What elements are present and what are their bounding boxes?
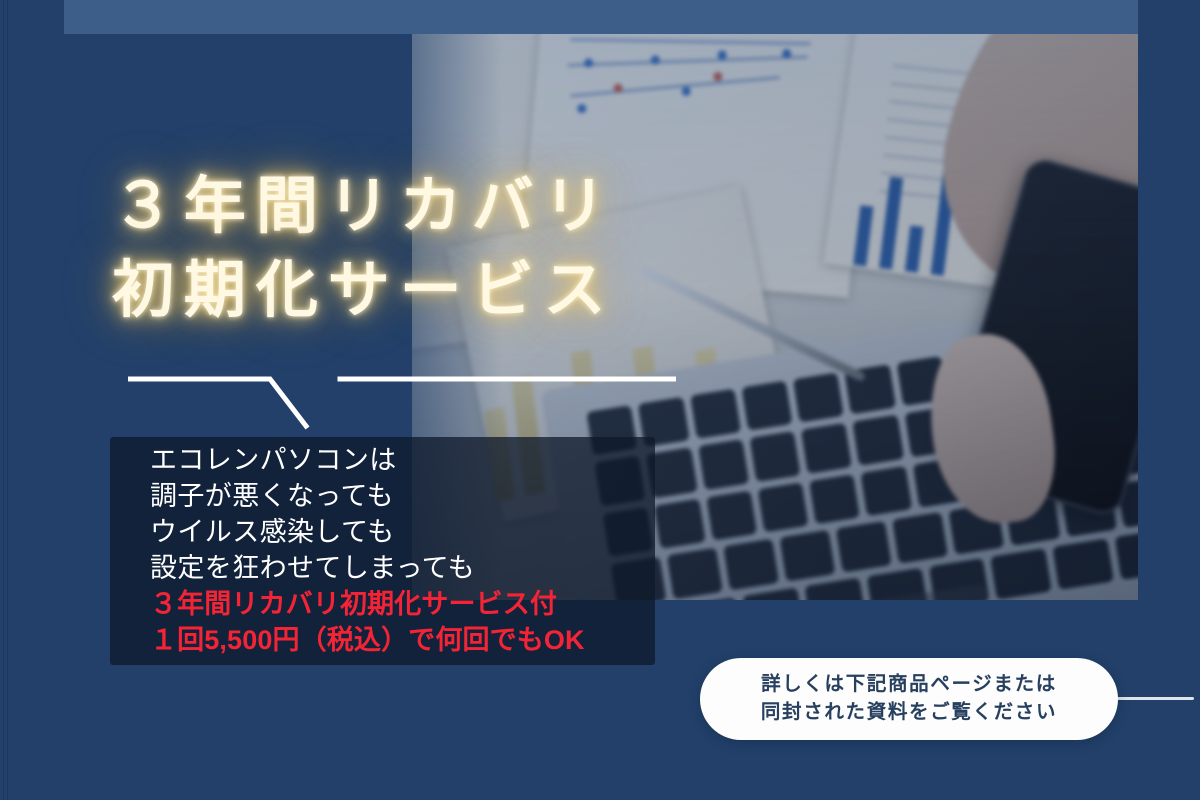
callout-line-2: 同封された資料をご覧ください [761, 699, 1057, 727]
top-accent-band [64, 0, 1138, 34]
promo-banner: ３年間リカバリ 初期化サービス エコレンパソコンは 調子が悪くなっても ウイルス… [0, 0, 1200, 800]
edge-seam-line [3, 0, 4, 800]
body-line-6-accent: １回5,500円（税込）で何回でもOK [150, 623, 585, 659]
callout-text: 詳しくは下記商品ページまたは 同封された資料をご覧ください [761, 671, 1057, 726]
callout-tail-line [1108, 697, 1194, 700]
page-title: ３年間リカバリ 初期化サービス [112, 165, 872, 334]
divider [128, 370, 676, 436]
headline-line-2: 初期化サービス [112, 249, 872, 333]
divider-icon [128, 370, 676, 436]
headline-line-1: ３年間リカバリ [112, 165, 872, 249]
body-text: エコレンパソコンは 調子が悪くなっても ウイルス感染しても 設定を狂わせてしまっ… [150, 443, 585, 658]
callout-line-1: 詳しくは下記商品ページまたは [761, 671, 1057, 699]
body-line-1: エコレンパソコンは [150, 443, 585, 479]
edge-seam-line [7, 0, 8, 800]
body-line-5-accent: ３年間リカバリ初期化サービス付 [150, 587, 585, 623]
body-line-4: 設定を狂わせてしまっても [150, 551, 585, 587]
body-line-2: 調子が悪くなっても [150, 479, 585, 515]
body-line-3: ウイルス感染しても [150, 515, 585, 551]
callout-pill: 詳しくは下記商品ページまたは 同封された資料をご覧ください [700, 658, 1118, 740]
